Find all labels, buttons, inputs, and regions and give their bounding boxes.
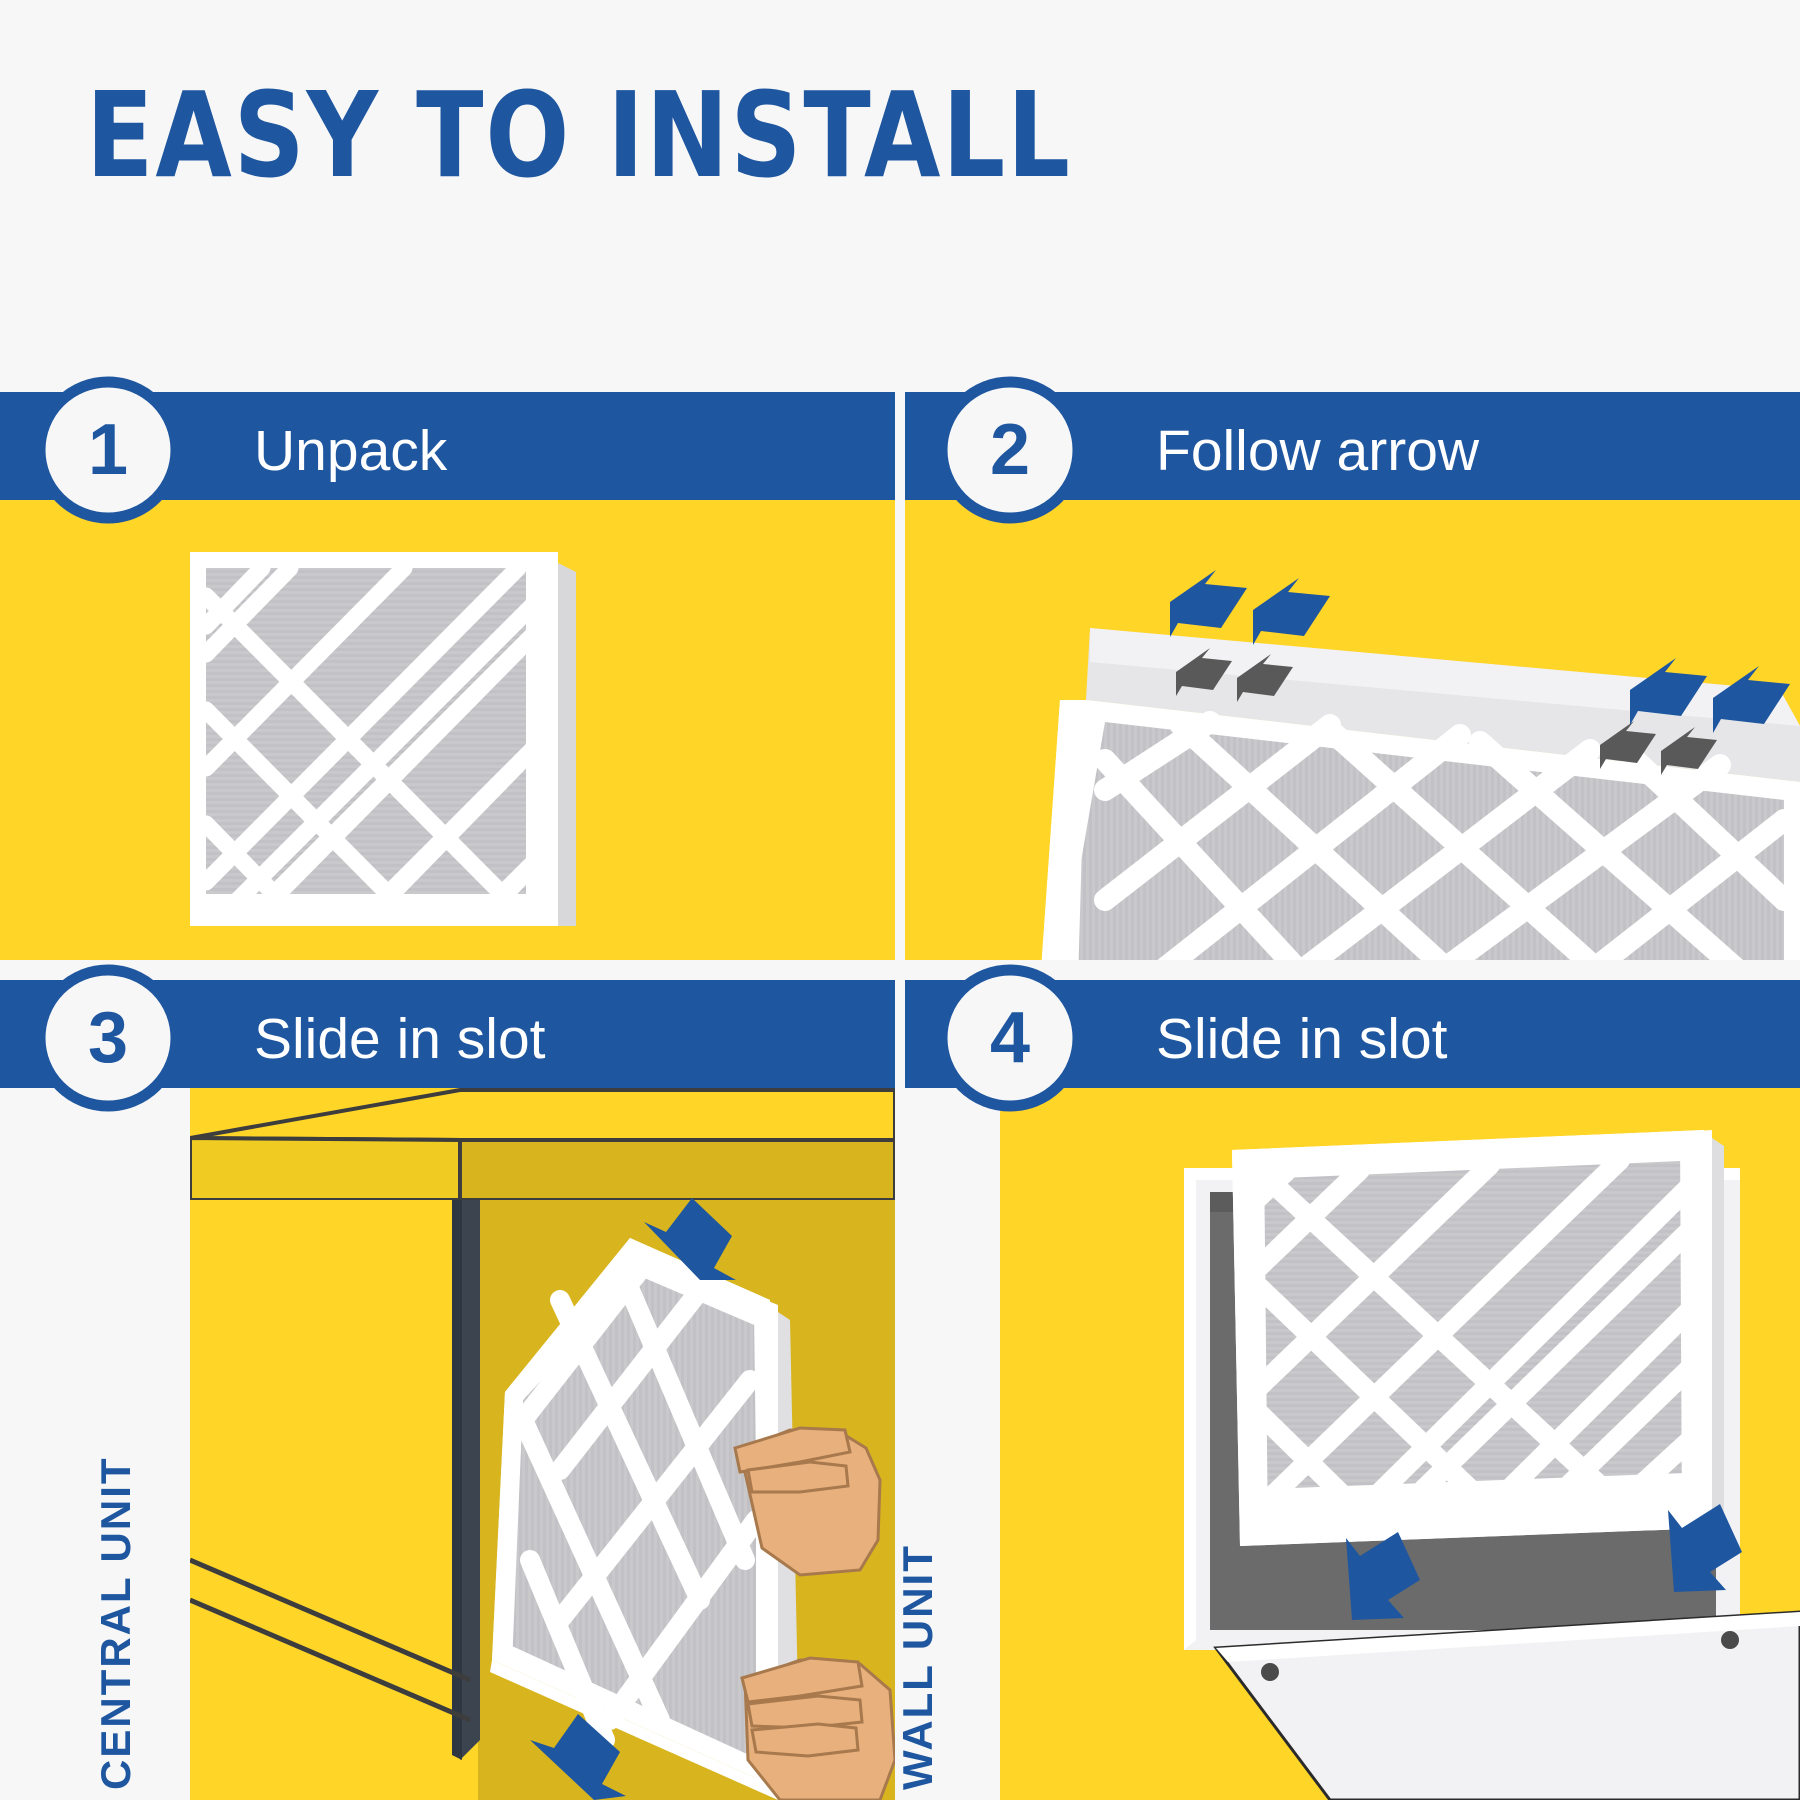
step-2-label: Follow arrow (1156, 418, 1479, 484)
step-4-side-label: WALL UNIT (894, 1544, 942, 1790)
step-4-number: 4 (940, 968, 1080, 1108)
panel-4-illustration (1000, 1088, 1800, 1800)
panel-2-illustration (905, 498, 1800, 985)
hand-lower (742, 1658, 895, 1800)
infographic-artwork (0, 0, 1800, 1800)
filter-in-wall (1232, 1130, 1724, 1546)
panel-1-illustration (0, 498, 895, 960)
step-2-number: 2 (940, 380, 1080, 520)
step-3-side-label: CENTRAL UNIT (92, 1456, 140, 1790)
step-1-number: 1 (38, 380, 178, 520)
step-3-label: Slide in slot (254, 1006, 546, 1072)
step-1-label: Unpack (254, 418, 447, 484)
step-3-number: 3 (38, 968, 178, 1108)
step-4-label: Slide in slot (1156, 1006, 1448, 1072)
panel-3-illustration (190, 1088, 895, 1800)
